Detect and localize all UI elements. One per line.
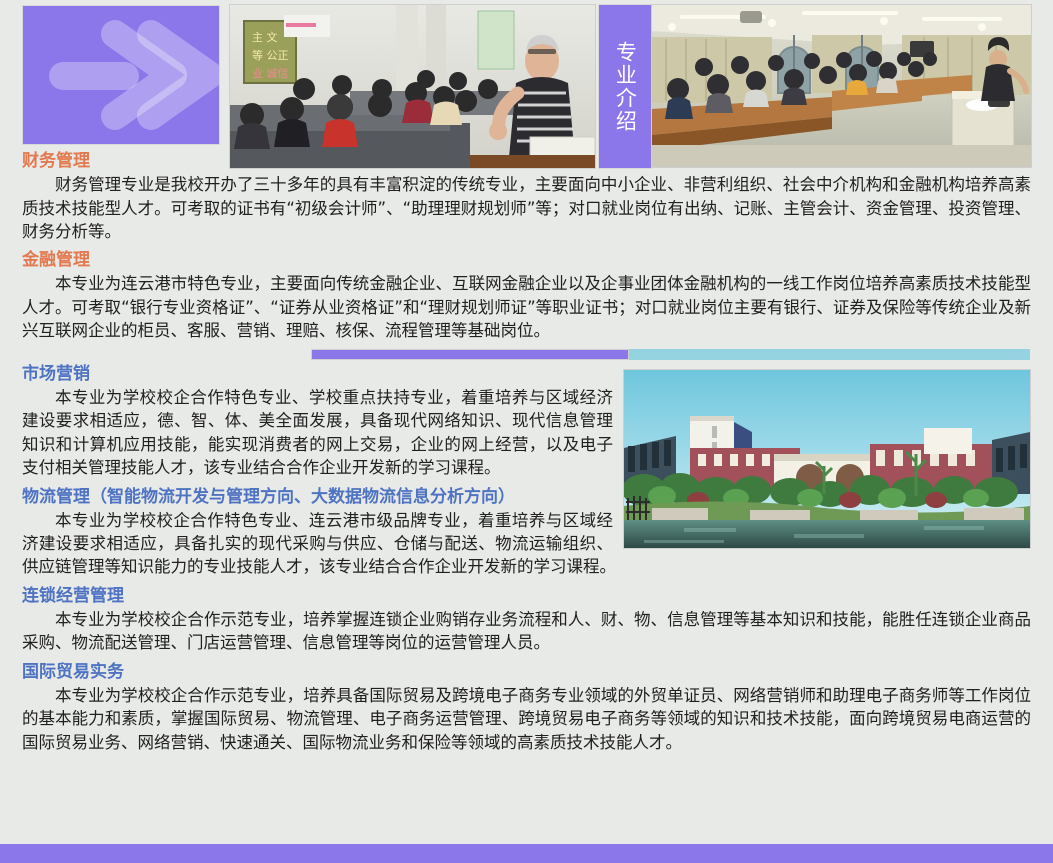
vertical-title-banner: 专业介绍 — [598, 4, 652, 169]
section-heading-text: 物流管理 — [22, 487, 90, 507]
decorative-bar-cyan — [629, 349, 1030, 360]
header-band: 主 文 等 公正 业 诚信 — [0, 0, 1053, 172]
bottom-accent-bar — [0, 844, 1053, 863]
section-heading: 连锁经营管理 — [22, 585, 1031, 607]
arrow-graphic-box — [22, 5, 220, 145]
photo-lecture-hall — [651, 4, 1032, 168]
double-chevron-arrow-icon — [23, 6, 219, 144]
svg-text:业 诚信: 业 诚信 — [252, 67, 289, 80]
section-heading: 金融管理 — [22, 249, 1031, 271]
photo-classroom-lecture: 主 文 等 公正 业 诚信 — [229, 4, 596, 169]
section-paragraph: 本专业为学校校企合作示范专业，培养具备国际贸易及跨境电子商务专业领域的外贸单证员… — [22, 684, 1031, 754]
photo-campus-view — [623, 369, 1031, 549]
section-international-trade-practice: 国际贸易实务 本专业为学校校企合作示范专业，培养具备国际贸易及跨境电子商务专业领… — [0, 661, 1053, 754]
slide-root: 主 文 等 公正 业 诚信 — [0, 0, 1053, 863]
section-finance-management: 财务管理 财务管理专业是我校开办了三十多年的具有丰富积淀的传统专业，主要面向中小… — [0, 150, 1053, 243]
section-paragraph: 本专业为连云港市特色专业，主要面向传统金融企业、互联网金融企业以及企事业团体金融… — [22, 272, 1031, 342]
content-body: 财务管理 财务管理专业是我校开办了三十多年的具有丰富积淀的传统专业，主要面向中小… — [0, 150, 1053, 760]
section-paragraph: 本专业为学校校企合作示范专业，培养掌握连锁企业购销存业务流程和人、财、物、信息管… — [22, 608, 1031, 655]
section-heading: 财务管理 — [22, 150, 1031, 172]
section-paragraph: 财务管理专业是我校开办了三十多年的具有丰富积淀的传统专业，主要面向中小企业、非营… — [22, 173, 1031, 243]
vertical-title-text: 专业介绍 — [613, 41, 638, 133]
section-heading-suffix: （智能物流开发与管理方向、大数据物流信息分析方向） — [90, 487, 515, 507]
section-heading: 国际贸易实务 — [22, 661, 1031, 683]
svg-text:主 文: 主 文 — [252, 30, 278, 44]
section-marketing-and-logistics: 市场营销 本专业为学校校企合作特色专业、学校重点扶持专业，着重培养与区域经济建设… — [0, 363, 1053, 579]
decorative-bar-row — [0, 349, 1053, 361]
section-financial-management: 金融管理 本专业为连云港市特色专业，主要面向传统金融企业、互联网金融企业以及企事… — [0, 249, 1053, 342]
section-chain-operation-management: 连锁经营管理 本专业为学校校企合作示范专业，培养掌握连锁企业购销存业务流程和人、… — [0, 585, 1053, 655]
svg-text:等 公正: 等 公正 — [252, 48, 289, 62]
decorative-bar-purple — [311, 349, 629, 360]
